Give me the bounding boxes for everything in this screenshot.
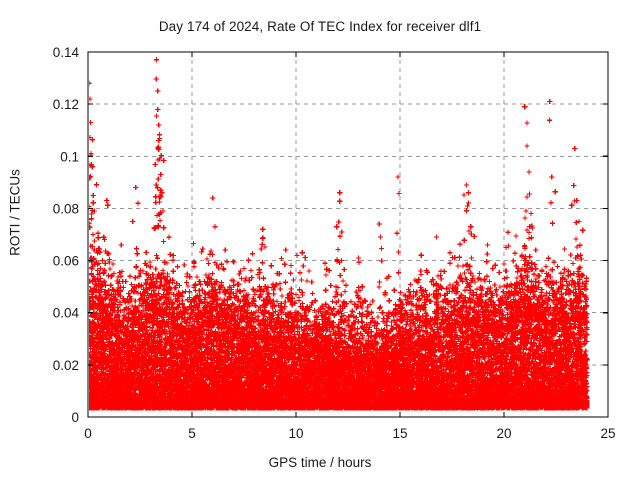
y-tick-label: 0.14 — [53, 45, 80, 60]
y-tick-label: 0.06 — [53, 254, 79, 269]
y-tick-label: 0.1 — [60, 149, 79, 164]
y-tick-label: 0.08 — [53, 201, 79, 216]
y-tick-label: 0.12 — [53, 97, 79, 112]
x-tick-label: 25 — [600, 426, 615, 441]
x-axis-label: GPS time / hours — [0, 455, 640, 470]
y-axis-label: ROTI / TECUs — [8, 153, 23, 273]
x-tick-label: 0 — [84, 426, 92, 441]
x-tick-label: 20 — [496, 426, 511, 441]
rot-index-scatter-plot: Day 174 of 2024, Rate Of TEC Index for r… — [0, 0, 640, 480]
x-tick-label: 10 — [288, 426, 303, 441]
x-tick-label: 15 — [392, 426, 407, 441]
x-tick-label: 5 — [188, 426, 196, 441]
y-tick-label: 0 — [71, 410, 79, 425]
y-tick-label: 0.02 — [53, 358, 79, 373]
y-tick-label: 0.04 — [53, 306, 80, 321]
plot-canvas: 051015202500.020.040.060.080.10.120.14 — [0, 0, 640, 480]
scatter-series-roti — [85, 57, 589, 410]
